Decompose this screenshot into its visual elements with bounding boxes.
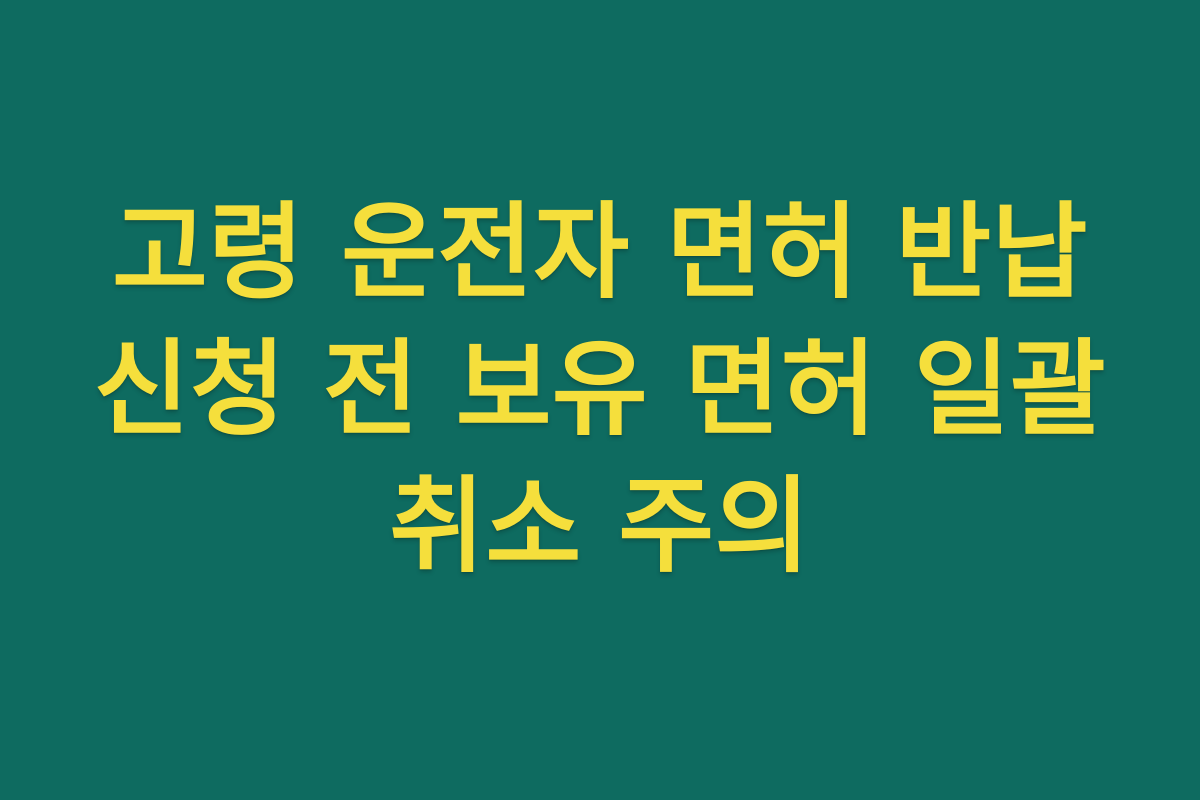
headline-card: 고령 운전자 면허 반납 신청 전 보유 면허 일괄 취소 주의 xyxy=(0,0,1200,800)
headline-block: 고령 운전자 면허 반납 신청 전 보유 면허 일괄 취소 주의 xyxy=(0,184,1200,595)
headline-line-3: 취소 주의 xyxy=(0,458,1200,595)
headline-line-1: 고령 운전자 면허 반납 xyxy=(0,184,1200,321)
headline-line-2: 신청 전 보유 면허 일괄 xyxy=(0,321,1200,458)
